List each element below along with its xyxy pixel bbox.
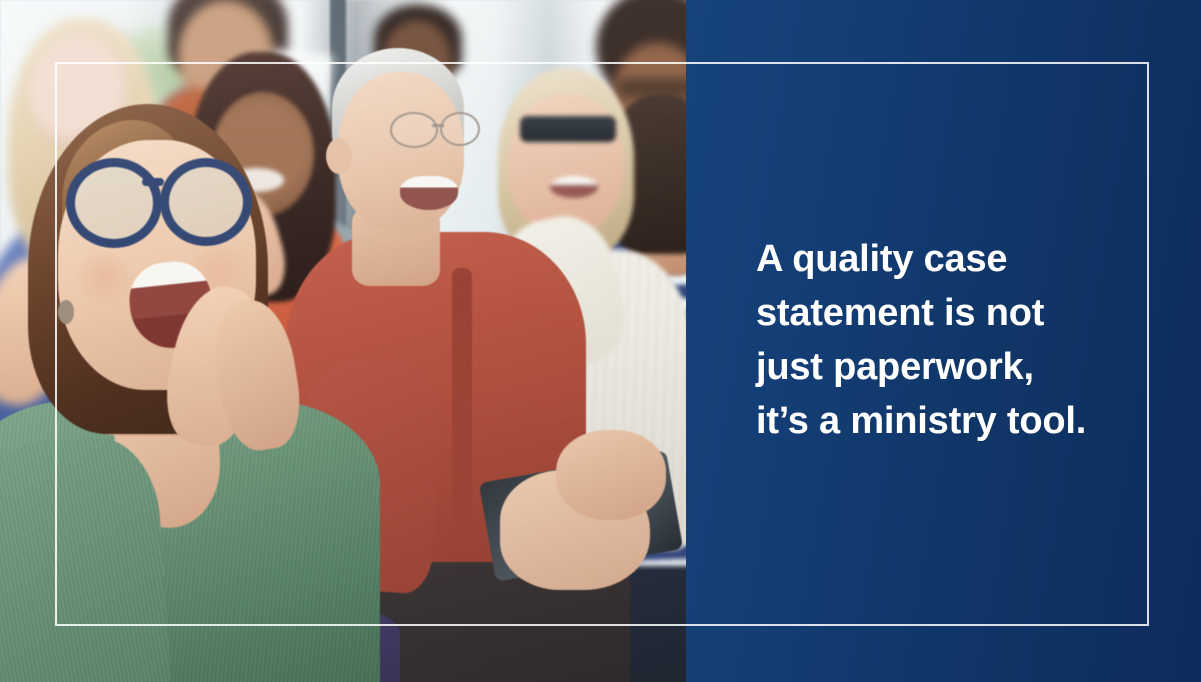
man-eyeglass-bridge (432, 124, 444, 127)
headline-line-2: statement is not (756, 286, 1176, 340)
front-woman-glasses-left-lens (66, 158, 162, 248)
front-woman-glasses-bridge (142, 178, 164, 186)
man-eyeglass-right (440, 112, 480, 146)
man-hand-left (556, 430, 666, 520)
front-woman-glasses-right-lens (160, 158, 252, 246)
audience-photo (0, 0, 686, 682)
front-woman-cheek-left (74, 252, 136, 304)
headline-line-3: just paperwork, (756, 340, 1176, 394)
headline-quote: A quality case statement is not just pap… (756, 232, 1176, 448)
headline-line-4: it’s a ministry tool. (756, 394, 1176, 448)
man-ear (326, 138, 352, 174)
headline-line-1: A quality case (756, 232, 1176, 286)
blonde-woman-glasses (520, 116, 616, 142)
front-woman-earring (58, 300, 74, 324)
man-cardigan-placket (452, 268, 472, 528)
blonde-woman-smile (550, 176, 598, 198)
man-eyeglass-left (390, 112, 438, 148)
man-laughing-mouth (400, 176, 458, 210)
slide-canvas: A quality case statement is not just pap… (0, 0, 1201, 682)
